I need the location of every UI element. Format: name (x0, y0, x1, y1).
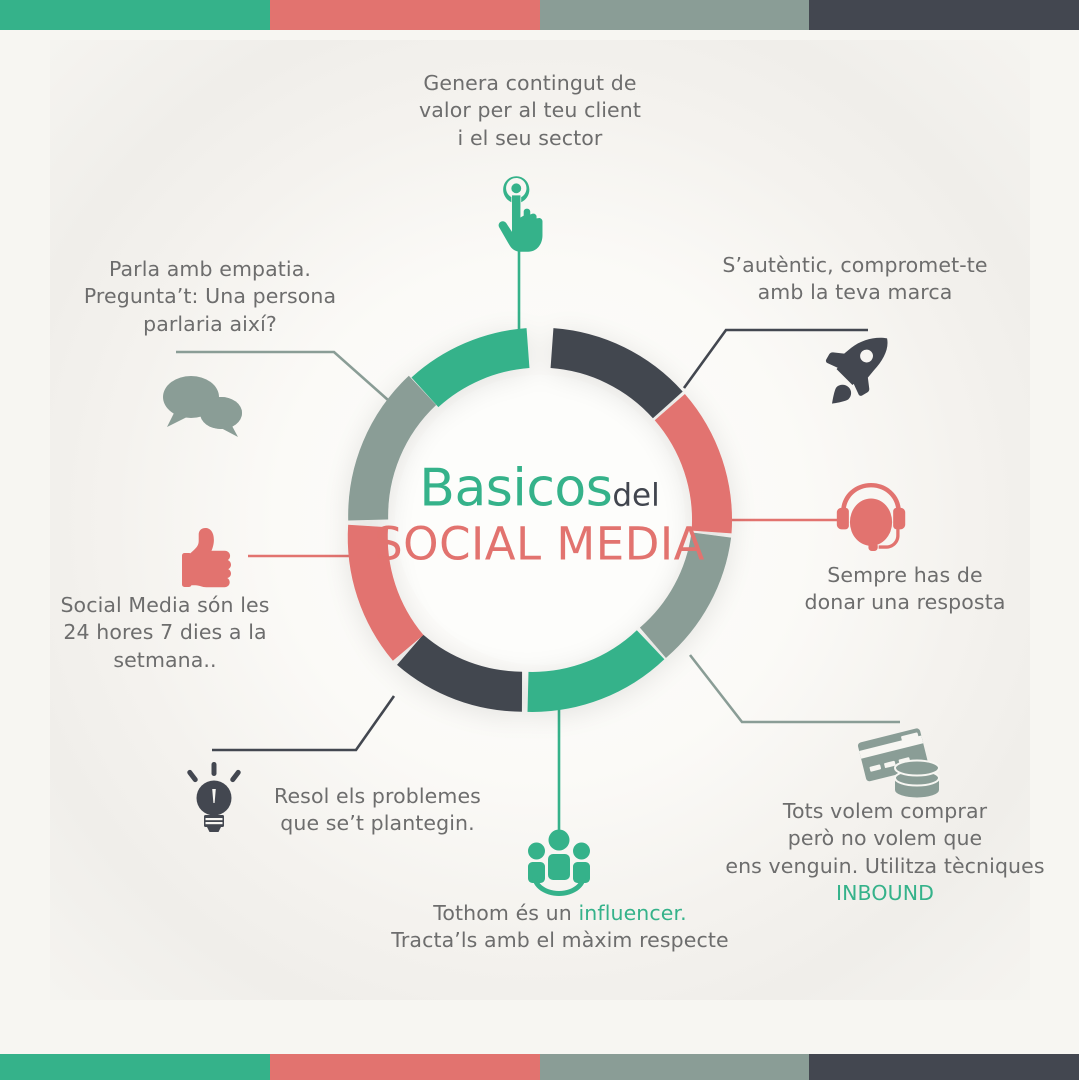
tip-influencer-prefix: Tothom és un (433, 901, 578, 925)
tip-inbound-line-1: Tots volem comprar (700, 798, 1070, 825)
credit-card-coins-icon (857, 728, 939, 798)
pointing-hand-icon (499, 176, 543, 251)
tip-label-influencer: Tothom és un influencer. Tracta’ls amb e… (350, 900, 770, 955)
tip-influencer-accent: influencer. (579, 901, 687, 925)
tip-label-problems: Resol els problemes que se’t plantegin. (255, 783, 500, 838)
tip-authentic-line-1: S’autèntic, compromet-te (690, 252, 1020, 279)
wheel-inner-disc (395, 375, 685, 665)
band-segment-charcoal (809, 1054, 1079, 1080)
tip-influencer-line-2: Tracta’ls amb el màxim respecte (350, 927, 770, 954)
band-segment-green (0, 1054, 270, 1080)
tip-content-line-3: i el seu sector (355, 125, 705, 152)
tip-content-line-1: Genera contingut de (355, 70, 705, 97)
tip-label-authentic: S’autèntic, compromet-te amb la teva mar… (690, 252, 1020, 307)
connector-inbound (690, 655, 900, 722)
tip-response-line-2: donar una resposta (780, 589, 1030, 616)
tip-always-on-line-3: setmana.. (35, 647, 295, 674)
thumbs-up-icon (182, 528, 231, 587)
tip-content-line-2: valor per al teu client (355, 97, 705, 124)
tip-label-response: Sempre has de donar una resposta (780, 562, 1030, 617)
tip-problems-line-1: Resol els problemes (255, 783, 500, 810)
connector-problems (212, 696, 394, 750)
tip-label-content: Genera contingut de valor per al teu cli… (355, 70, 705, 152)
tip-authentic-line-2: amb la teva marca (690, 279, 1020, 306)
tip-label-empathy: Parla amb empatia. Pregunta’t: Una perso… (55, 256, 365, 338)
tip-influencer-line-1: Tothom és un influencer. (350, 900, 770, 927)
tip-response-line-1: Sempre has de (780, 562, 1030, 589)
tip-label-always-on: Social Media són les 24 hores 7 dies a l… (35, 592, 295, 674)
tip-empathy-line-2: Pregunta’t: Una persona (55, 283, 365, 310)
tip-always-on-line-1: Social Media són les (35, 592, 295, 619)
band-segment-sage (540, 1054, 810, 1080)
rocket-icon (826, 338, 888, 404)
tip-problems-line-2: que se’t plantegin. (255, 810, 500, 837)
infographic-canvas: Basicosdel SOCIAL MEDIA Genera contingut… (0, 0, 1079, 1080)
band-segment-red (270, 1054, 540, 1080)
tip-empathy-line-1: Parla amb empatia. (55, 256, 365, 283)
bottom-color-band (0, 1054, 1079, 1080)
tip-inbound-line-3: ens venguin. Utilitza tècniques (700, 853, 1070, 880)
tip-always-on-line-2: 24 hores 7 dies a la (35, 619, 295, 646)
lightbulb-icon (186, 762, 241, 832)
tip-empathy-line-3: parlaria així? (55, 311, 365, 338)
speech-bubbles-icon (163, 376, 242, 437)
tip-inbound-line-2: però no volem que (700, 825, 1070, 852)
people-group-icon (528, 830, 590, 897)
headset-icon (837, 483, 905, 551)
tip-label-inbound: Tots volem comprar però no volem que ens… (700, 798, 1070, 908)
